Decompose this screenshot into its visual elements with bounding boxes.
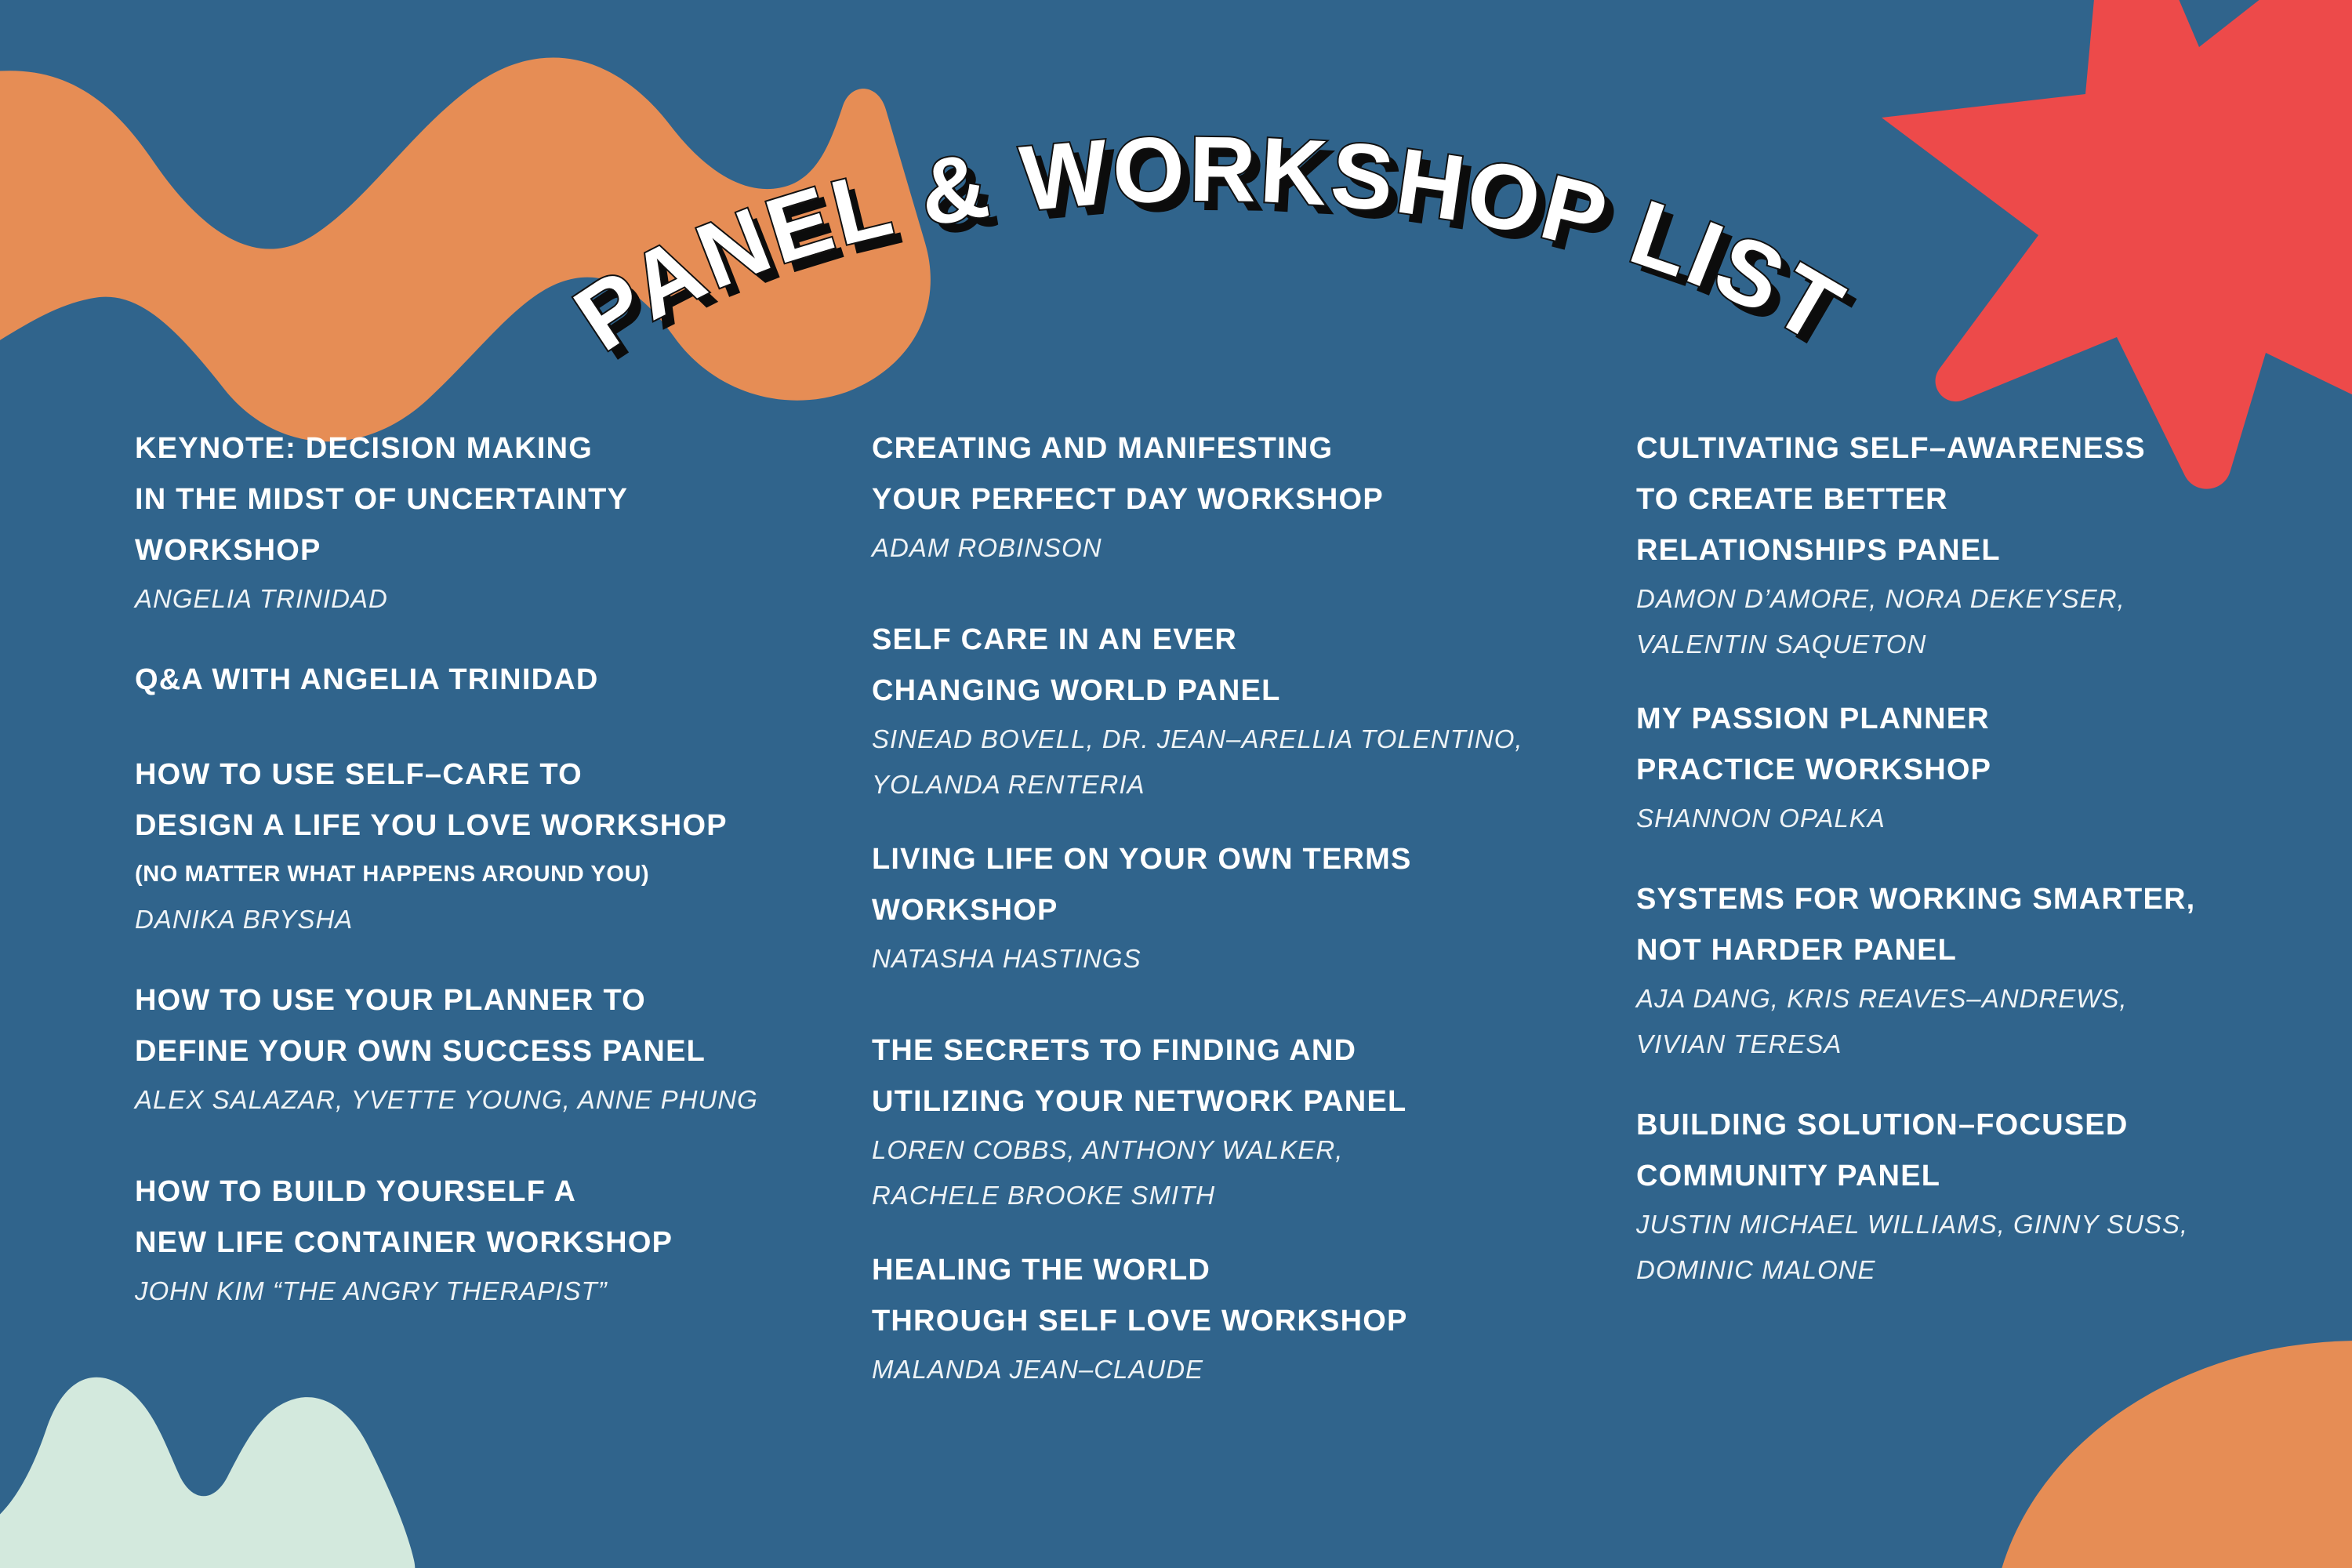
session-title-line: HOW TO BUILD YOURSELF A — [135, 1167, 872, 1218]
session-speakers: DAMON D’AMORE, NORA DEKEYSER, — [1636, 576, 2287, 622]
session-speakers: VIVIAN TERESA — [1636, 1022, 2287, 1067]
session-title-line: TO CREATE BETTER — [1636, 474, 2287, 525]
session-entry[interactable]: KEYNOTE: DECISION MAKING IN THE MIDST OF… — [135, 423, 872, 622]
session-speakers: MALANDA JEAN–CLAUDE — [872, 1347, 1624, 1392]
session-speakers: ADAM ROBINSON — [872, 525, 1624, 571]
session-speakers: YOLANDA RENTERIA — [872, 762, 1624, 808]
session-title-line: CHANGING WORLD PANEL — [872, 666, 1624, 717]
session-title-line: RELATIONSHIPS PANEL — [1636, 525, 2287, 576]
session-speakers: JUSTIN MICHAEL WILLIAMS, GINNY SUSS, — [1636, 1202, 2287, 1247]
session-speakers: JOHN KIM “THE ANGRY THERAPIST” — [135, 1269, 872, 1314]
session-entry[interactable]: BUILDING SOLUTION–FOCUSED COMMUNITY PANE… — [1636, 1100, 2287, 1293]
session-title-line: THROUGH SELF LOVE WORKSHOP — [872, 1296, 1624, 1347]
page-title-arch: PANEL & WORKSHOP LIST PANEL & WORKSHOP L… — [0, 47, 2352, 376]
session-title-line: BUILDING SOLUTION–FOCUSED — [1636, 1100, 2287, 1151]
session-columns: KEYNOTE: DECISION MAKING IN THE MIDST OF… — [0, 423, 2352, 1392]
session-title-line: CULTIVATING SELF–AWARENESS — [1636, 423, 2287, 474]
session-entry[interactable]: THE SECRETS TO FINDING AND UTILIZING YOU… — [872, 1025, 1624, 1218]
session-entry[interactable]: LIVING LIFE ON YOUR OWN TERMS WORKSHOP N… — [872, 834, 1624, 982]
session-title-line: HEALING THE WORLD — [872, 1245, 1624, 1296]
session-speakers: ANGELIA TRINIDAD — [135, 576, 872, 622]
session-title-line: YOUR PERFECT DAY WORKSHOP — [872, 474, 1624, 525]
session-title-line: WORKSHOP — [872, 885, 1624, 936]
session-title-line: HOW TO USE SELF–CARE TO — [135, 750, 872, 800]
session-title-line: SYSTEMS FOR WORKING SMARTER, — [1636, 874, 2287, 925]
session-entry[interactable]: HOW TO BUILD YOURSELF A NEW LIFE CONTAIN… — [135, 1167, 872, 1314]
session-entry[interactable]: HOW TO USE SELF–CARE TO DESIGN A LIFE YO… — [135, 750, 872, 942]
page-title-main-text: PANEL & WORKSHOP LIST — [557, 118, 1861, 371]
session-title-line: UTILIZING YOUR NETWORK PANEL — [872, 1076, 1624, 1127]
session-title-line: SELF CARE IN AN EVER — [872, 615, 1624, 666]
session-title-line: PRACTICE WORKSHOP — [1636, 745, 2287, 796]
session-entry[interactable]: SELF CARE IN AN EVER CHANGING WORLD PANE… — [872, 615, 1624, 808]
session-speakers: AJA DANG, KRIS REAVES–ANDREWS, — [1636, 976, 2287, 1022]
session-title-line: HOW TO USE YOUR PLANNER TO — [135, 975, 872, 1026]
session-title-line: MY PASSION PLANNER — [1636, 694, 2287, 745]
session-speakers: LOREN COBBS, ANTHONY WALKER, — [872, 1127, 1624, 1173]
session-entry[interactable]: HEALING THE WORLD THROUGH SELF LOVE WORK… — [872, 1245, 1624, 1392]
session-entry[interactable]: SYSTEMS FOR WORKING SMARTER, NOT HARDER … — [1636, 874, 2287, 1067]
session-title-line: KEYNOTE: DECISION MAKING — [135, 423, 872, 474]
page-title: PANEL & WORKSHOP LIST PANEL & WORKSHOP L… — [0, 47, 2352, 376]
session-entry[interactable]: CREATING AND MANIFESTING YOUR PERFECT DA… — [872, 423, 1624, 571]
column-1: KEYNOTE: DECISION MAKING IN THE MIDST OF… — [135, 423, 872, 1314]
session-speakers: DOMINIC MALONE — [1636, 1247, 2287, 1293]
session-title-line: IN THE MIDST OF UNCERTAINTY — [135, 474, 872, 525]
session-entry[interactable]: HOW TO USE YOUR PLANNER TO DEFINE YOUR O… — [135, 975, 872, 1123]
session-speakers: DANIKA BRYSHA — [135, 897, 872, 942]
session-speakers: SINEAD BOVELL, DR. JEAN–ARELLIA TOLENTIN… — [872, 717, 1624, 762]
column-2: CREATING AND MANIFESTING YOUR PERFECT DA… — [872, 423, 1624, 1392]
session-entry[interactable]: CULTIVATING SELF–AWARENESS TO CREATE BET… — [1636, 423, 2287, 667]
session-entry[interactable]: MY PASSION PLANNER PRACTICE WORKSHOP SHA… — [1636, 694, 2287, 841]
session-title-line: COMMUNITY PANEL — [1636, 1151, 2287, 1202]
session-entry[interactable]: Q&A WITH ANGELIA TRINIDAD — [135, 655, 872, 706]
session-title-line: LIVING LIFE ON YOUR OWN TERMS — [872, 834, 1624, 885]
session-title-line: CREATING AND MANIFESTING — [872, 423, 1624, 474]
page-title-text: PANEL & WORKSHOP LIST — [557, 118, 1861, 371]
column-3: CULTIVATING SELF–AWARENESS TO CREATE BET… — [1636, 423, 2287, 1293]
session-speakers: NATASHA HASTINGS — [872, 936, 1624, 982]
session-speakers: SHANNON OPALKA — [1636, 796, 2287, 841]
session-title-line: THE SECRETS TO FINDING AND — [872, 1025, 1624, 1076]
session-title-line: DESIGN A LIFE YOU LOVE WORKSHOP — [135, 800, 872, 851]
session-title-line: Q&A WITH ANGELIA TRINIDAD — [135, 655, 872, 706]
session-title-line: DEFINE YOUR OWN SUCCESS PANEL — [135, 1026, 872, 1077]
session-speakers: VALENTIN SAQUETON — [1636, 622, 2287, 667]
session-speakers: RACHELE BROOKE SMITH — [872, 1173, 1624, 1218]
mint-blob-bottom-left-icon — [0, 1377, 415, 1568]
session-title-line: NOT HARDER PANEL — [1636, 925, 2287, 976]
poster-canvas: PANEL & WORKSHOP LIST PANEL & WORKSHOP L… — [0, 0, 2352, 1568]
session-title-line: NEW LIFE CONTAINER WORKSHOP — [135, 1218, 872, 1269]
session-title-line: WORKSHOP — [135, 525, 872, 576]
session-speakers: ALEX SALAZAR, YVETTE YOUNG, ANNE PHUNG — [135, 1077, 872, 1123]
session-subtitle: (NO MATTER WHAT HAPPENS AROUND YOU) — [135, 851, 872, 897]
